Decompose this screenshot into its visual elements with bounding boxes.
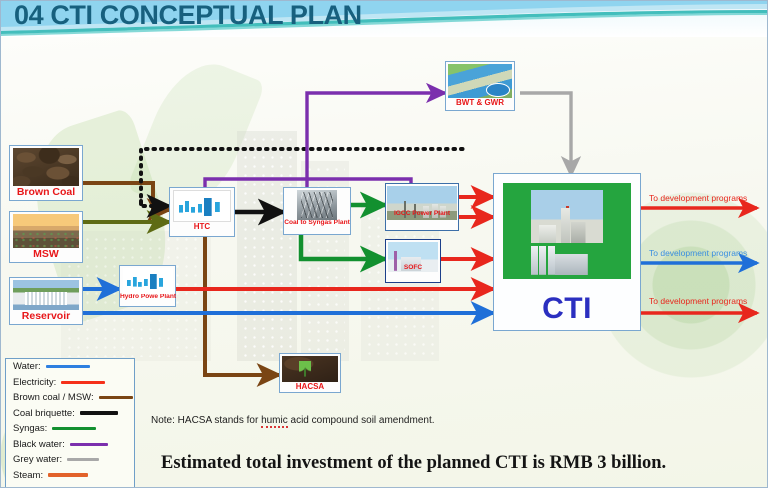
node-hacsa[interactable]: HACSA bbox=[279, 353, 341, 393]
legend-swatch-browncoal bbox=[99, 396, 133, 399]
legend-item: Grey water: bbox=[6, 452, 134, 468]
hacsa-image bbox=[282, 356, 338, 382]
bwt-gwr-image bbox=[448, 64, 512, 98]
output-label-3: To development programs bbox=[649, 296, 747, 306]
legend-swatch-steam bbox=[48, 473, 88, 477]
output-label-1: To development programs bbox=[649, 193, 747, 203]
node-brown-coal-label: Brown Coal bbox=[10, 186, 82, 200]
node-coal-to-syngas-label: Coal to Syngas Plant bbox=[284, 220, 350, 228]
node-coal-to-syngas-plant[interactable]: Coal to Syngas Plant bbox=[283, 187, 351, 235]
legend-swatch-greywater bbox=[67, 458, 99, 461]
legend-item: Syngas: bbox=[6, 421, 134, 437]
coal-syngas-image bbox=[297, 190, 337, 220]
legend-item: Coal briquette: bbox=[6, 406, 134, 422]
reservoir-image bbox=[13, 280, 79, 310]
legend-label: Brown coal / MSW: bbox=[13, 392, 94, 403]
cti-plant-image bbox=[531, 190, 603, 244]
node-msw[interactable]: MSW bbox=[9, 211, 83, 263]
background-building bbox=[237, 131, 297, 361]
legend-item: Black water: bbox=[6, 437, 134, 453]
page-title: 04 CTI CONCEPTUAL PLAN bbox=[14, 1, 362, 31]
legend-label: Steam: bbox=[13, 470, 43, 481]
node-brown-coal[interactable]: Brown Coal bbox=[9, 145, 83, 201]
legend-item: Steam: bbox=[6, 468, 134, 484]
node-htc[interactable]: HTC bbox=[169, 187, 235, 237]
node-sofc-label: SOFC bbox=[386, 265, 440, 273]
legend-swatch-water bbox=[46, 365, 90, 368]
legend-item: Electricity: bbox=[6, 375, 134, 391]
cti-label: CTI bbox=[494, 292, 640, 326]
slide-canvas: 04 CTI CONCEPTUAL PLAN bbox=[0, 0, 768, 488]
node-bwt-gwr-label: BWT & GWR bbox=[446, 98, 514, 108]
node-reservoir[interactable]: Reservoir bbox=[9, 277, 83, 325]
legend-swatch-blackwater bbox=[70, 443, 108, 446]
node-sofc[interactable]: SOFC bbox=[385, 239, 441, 283]
brown-coal-image bbox=[13, 148, 79, 186]
legend-label: Electricity: bbox=[13, 377, 56, 388]
node-hydro-label: Hydro Powe Plant bbox=[120, 294, 175, 302]
node-igcc-label: IGCC Power Plant bbox=[386, 211, 458, 219]
legend-label: Grey water: bbox=[13, 454, 62, 465]
node-cti[interactable]: CTI bbox=[493, 173, 641, 331]
node-hacsa-label: HACSA bbox=[280, 382, 340, 392]
note-underlined-word: humic bbox=[261, 415, 288, 428]
hacsa-note: Note: HACSA stands for humic acid compou… bbox=[151, 415, 435, 426]
legend-label: Coal briquette: bbox=[13, 408, 75, 419]
legend-swatch-electricity bbox=[61, 381, 105, 384]
note-prefix: Note: HACSA stands for bbox=[151, 415, 261, 426]
node-reservoir-label: Reservoir bbox=[10, 310, 82, 324]
cti-tanks-image bbox=[526, 246, 608, 275]
node-igcc-power-plant[interactable]: IGCC Power Plant bbox=[385, 183, 459, 231]
header-banner: 04 CTI CONCEPTUAL PLAN bbox=[1, 1, 768, 37]
cti-green-panel bbox=[503, 183, 631, 279]
msw-image bbox=[13, 214, 79, 248]
output-label-2: To development programs bbox=[649, 248, 747, 258]
legend-panel: Water: Electricity: Brown coal / MSW: Co… bbox=[5, 358, 135, 488]
legend-item: Water: bbox=[6, 359, 134, 375]
note-suffix: acid compound soil amendment. bbox=[288, 415, 435, 426]
htc-image bbox=[173, 190, 231, 222]
legend-swatch-syngas bbox=[52, 427, 96, 430]
hydro-plant-image bbox=[123, 268, 173, 294]
legend-item: Brown coal / MSW: bbox=[6, 390, 134, 406]
node-htc-label: HTC bbox=[170, 222, 234, 232]
legend-swatch-coalbriquette bbox=[80, 411, 118, 415]
legend-label: Water: bbox=[13, 361, 41, 372]
node-hydro-power-plant[interactable]: Hydro Powe Plant bbox=[119, 265, 176, 307]
node-msw-label: MSW bbox=[10, 248, 82, 262]
legend-label: Black water: bbox=[13, 439, 65, 450]
node-bwt-gwr[interactable]: BWT & GWR bbox=[445, 61, 515, 111]
investment-statement: Estimated total investment of the planne… bbox=[161, 453, 666, 474]
legend-label: Syngas: bbox=[13, 423, 47, 434]
